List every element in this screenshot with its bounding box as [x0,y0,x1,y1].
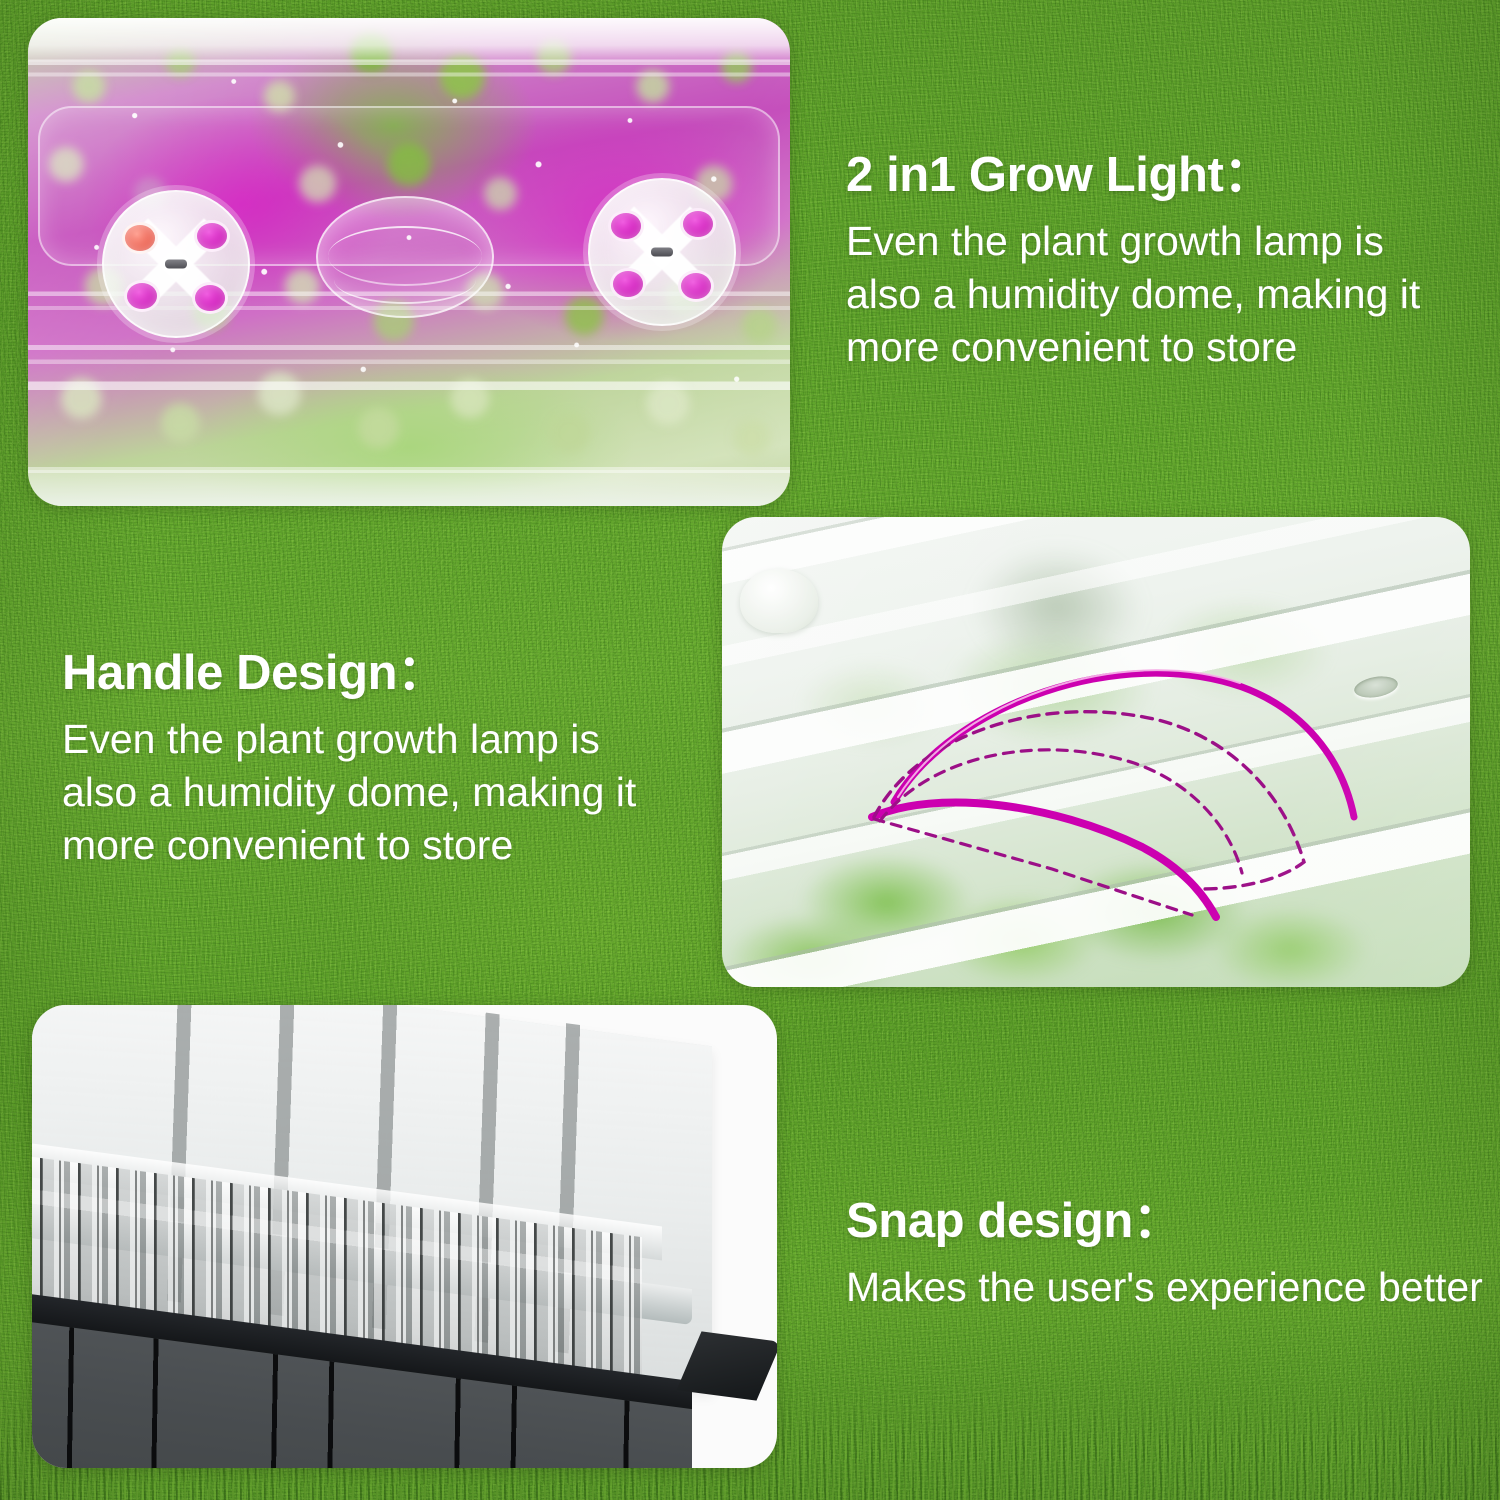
led-hole-bottom-right [192,282,228,314]
photo-card-grow-light [28,18,790,506]
led-center-contact [165,260,187,269]
led-hole-bottom-left [610,268,646,300]
feature-body-snap-design: Makes the user's experience better [846,1261,1446,1314]
led-center-contact [651,248,673,257]
feature-text-snap-design: Snap design： Makes the user's experience… [846,1194,1446,1314]
dome-center-handle [316,196,494,318]
led-grow-light-module-left [102,190,250,338]
feature-body-grow-light: Even the plant growth lamp is also a hum… [846,215,1456,375]
feature-heading-grow-light: 2 in1 Grow Light： [846,148,1456,203]
feature-heading-handle-design: Handle Design： [62,646,672,701]
feature-text-grow-light: 2 in1 Grow Light： Even the plant growth … [846,148,1456,375]
led-grow-light-module-right [588,178,736,326]
infographic-stage: 2 in1 Grow Light： Even the plant growth … [0,0,1500,1500]
feature-heading-snap-design: Snap design： [846,1194,1446,1249]
handle-highlight-annotation-icon [722,517,1470,987]
photo-card-snap-design [32,1005,777,1468]
feature-body-handle-design: Even the plant growth lamp is also a hum… [62,713,672,873]
feature-text-handle-design: Handle Design： Even the plant growth lam… [62,646,672,873]
photo-card-handle-design [722,517,1470,987]
led-hole-top-left [122,222,158,254]
led-hole-top-right [680,208,716,240]
led-hole-bottom-right [678,270,714,302]
dome-bottom-rim [28,470,790,506]
led-hole-bottom-left [124,280,160,312]
led-hole-top-right [194,220,230,252]
led-hole-top-left [608,210,644,242]
